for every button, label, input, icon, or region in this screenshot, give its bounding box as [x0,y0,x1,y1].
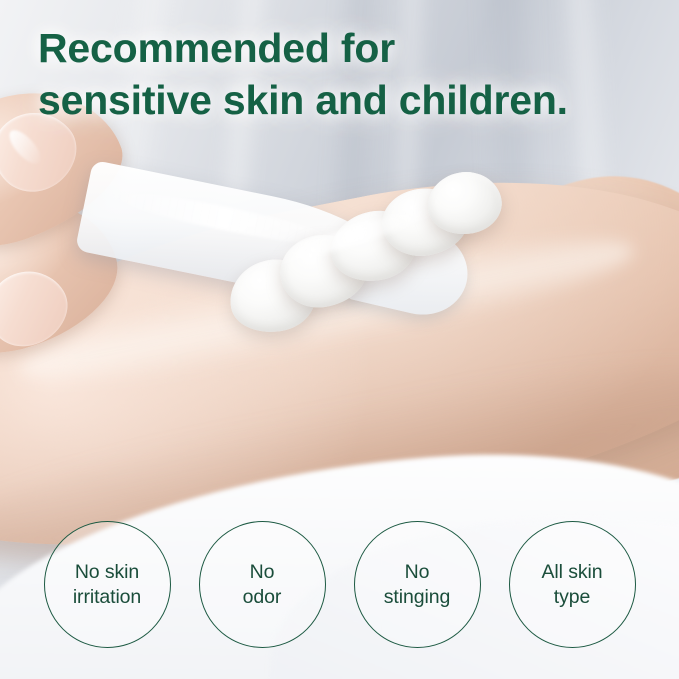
headline-line-2: sensitive skin and children. [38,74,658,126]
badge-label: No skin irritation [65,560,149,608]
badge-label-line-2: type [554,586,590,608]
badge-label-line-1: No [405,561,430,583]
badge-no-skin-irritation: No skin irritation [44,521,171,648]
badge-label: All skin type [534,560,611,608]
badge-label-line-2: irritation [73,586,141,608]
badge-label-line-1: All skin [542,561,603,583]
fingernail [0,256,80,360]
headline: Recommended for sensitive skin and child… [38,22,658,127]
badge-label-line-2: odor [243,586,282,608]
product-claim-banner: Recommended for sensitive skin and child… [0,0,679,679]
badge-no-odor: No odor [199,521,326,648]
badge-no-stinging: No stinging [354,521,481,648]
headline-line-1: Recommended for [38,22,658,74]
badge-label-line-2: stinging [384,586,450,608]
badge-label-line-1: No [250,561,275,583]
claim-badge-row: No skin irritation No odor No stinging A… [0,521,679,648]
badge-all-skin-type: All skin type [509,521,636,648]
badge-label-line-1: No skin [75,561,139,583]
badge-label: No odor [235,560,290,608]
badge-label: No stinging [376,560,458,608]
